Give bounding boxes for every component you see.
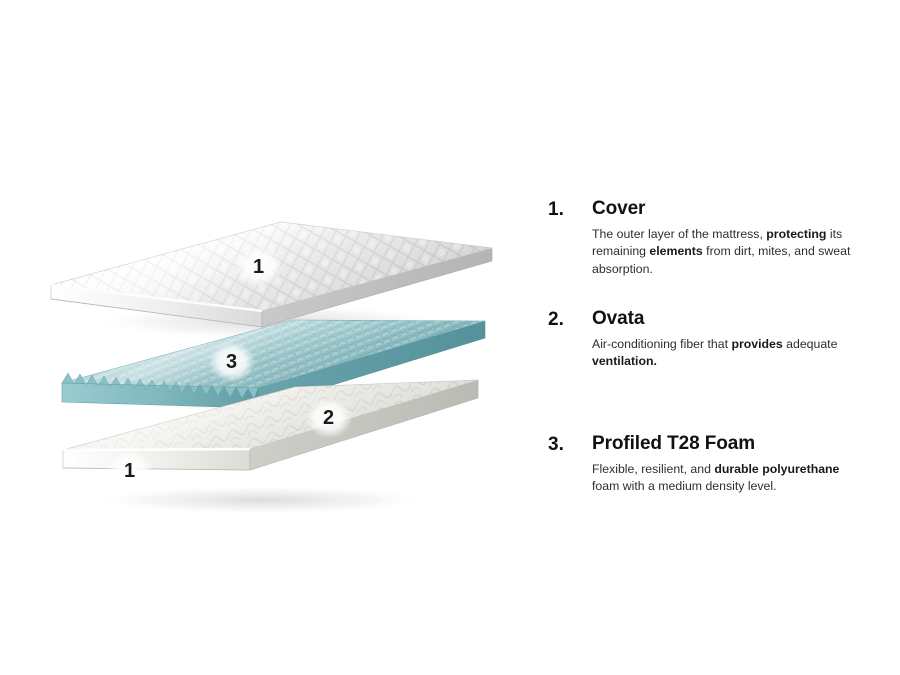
legend-body-cover: Cover The outer layer of the mattress, p…: [592, 198, 868, 278]
legend-title-cover: Cover: [592, 198, 868, 221]
foam-front-face: [63, 449, 250, 470]
legend-item-ovata: 2. Ovata Air-conditioning fiber that pro…: [548, 308, 868, 371]
legend-desc-cover: The outer layer of the mattress, protect…: [592, 226, 868, 278]
legend-index-2: 2.: [548, 308, 592, 331]
legend-body-foam: Profiled T28 Foam Flexible, resilient, a…: [592, 433, 868, 496]
layer-badge-cover-1: 1: [253, 257, 264, 277]
legend-desc-ovata: Air-conditioning fiber that provides ade…: [592, 336, 868, 371]
layer-badge-foam-2: 2: [323, 408, 334, 428]
legend-item-foam: 3. Profiled T28 Foam Flexible, resilient…: [548, 433, 868, 496]
shadow-under-foam: [94, 486, 430, 514]
layer-badge-ovata-3: 3: [226, 352, 237, 372]
mattress-layers-diagram: 1 3 2 1: [0, 0, 520, 675]
legend-body-ovata: Ovata Air-conditioning fiber that provid…: [592, 308, 868, 371]
legend-list: 1. Cover The outer layer of the mattress…: [548, 0, 888, 675]
legend-desc-foam: Flexible, resilient, and durable polyure…: [592, 461, 868, 496]
legend-title-ovata: Ovata: [592, 308, 868, 331]
legend-index-1: 1.: [548, 198, 592, 221]
layer-cover: [51, 222, 492, 327]
legend-index-3: 3.: [548, 433, 592, 456]
legend-title-foam: Profiled T28 Foam: [592, 433, 868, 456]
layer-badge-foam-edge-1: 1: [124, 461, 135, 481]
layers-illustration: [0, 0, 520, 675]
legend-item-cover: 1. Cover The outer layer of the mattress…: [548, 198, 868, 278]
foam-piping: [63, 449, 250, 450]
